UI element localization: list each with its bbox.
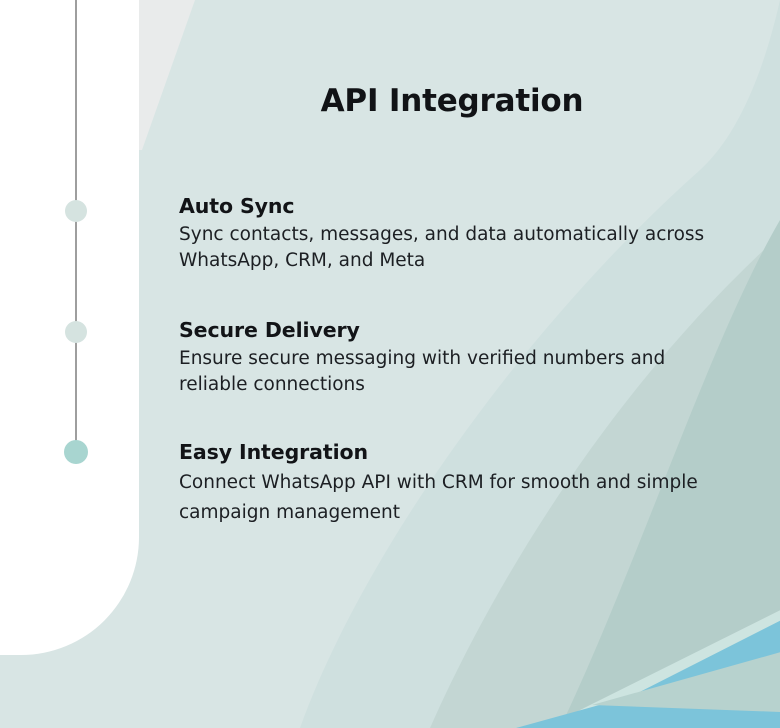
feature-heading: Secure Delivery [179,318,724,344]
feature-body: Sync contacts, messages, and data automa… [179,222,719,275]
feature-heading: Easy Integration [179,440,724,466]
feature-body: Ensure secure messaging with verified nu… [179,346,719,399]
feature-body: Connect WhatsApp API with CRM for smooth… [179,468,719,529]
feature-heading: Auto Sync [179,194,724,220]
slide-canvas: API Integration Auto Sync Sync contacts,… [0,0,780,728]
slide-content: API Integration Auto Sync Sync contacts,… [0,0,780,728]
page-title: API Integration [139,84,765,118]
feature-block-auto-sync: Auto Sync Sync contacts, messages, and d… [179,194,724,274]
feature-block-secure-delivery: Secure Delivery Ensure secure messaging … [179,318,724,398]
feature-block-easy-integration: Easy Integration Connect WhatsApp API wi… [179,440,724,529]
